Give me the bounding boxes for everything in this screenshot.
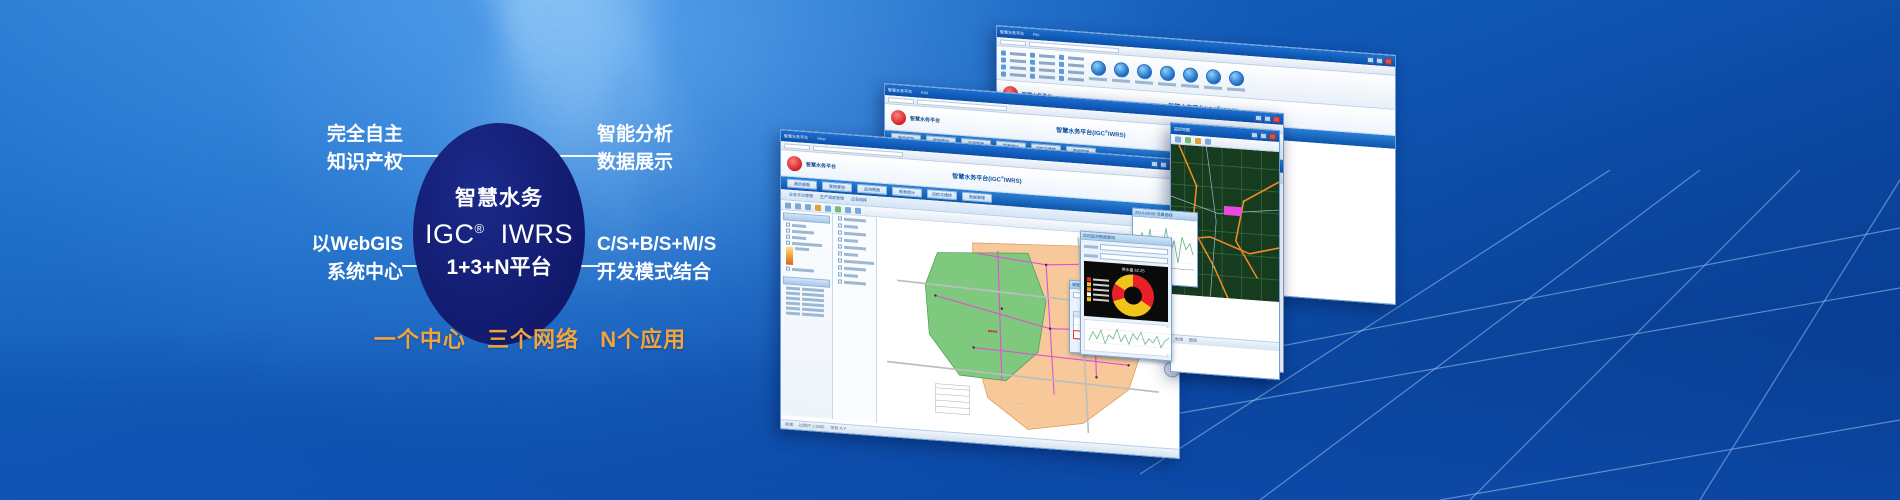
attr-value — [802, 303, 824, 308]
layer-checkbox[interactable] — [786, 266, 790, 270]
globe-icon[interactable] — [1114, 61, 1129, 77]
svg-text:·····: ····· — [1008, 269, 1013, 273]
tree-label — [844, 273, 858, 277]
tree-expand-icon[interactable] — [838, 251, 842, 255]
ribbon-button-large[interactable] — [1204, 68, 1222, 89]
app-title: 智慧水务平台(IGC®IWRS) — [952, 171, 1021, 185]
layers-icon[interactable] — [855, 207, 861, 213]
titlebar-text: 智慧水务平台 — [1000, 29, 1024, 37]
trend-chart — [1084, 319, 1168, 357]
ribbon-label — [1010, 59, 1026, 63]
tree-expand-icon[interactable] — [838, 244, 842, 248]
ribbon-icon[interactable] — [1059, 75, 1064, 80]
maximize-icon[interactable] — [1260, 132, 1267, 139]
monitor-panel-body: 供水量 52.25 — [1081, 240, 1171, 361]
layer-checkbox[interactable] — [786, 234, 790, 238]
tree-expand-icon[interactable] — [838, 265, 842, 269]
label-bottom-right: C/S+B/S+M/S 开发模式结合 — [597, 231, 716, 286]
center-ellipse: 智慧水务 IGC® IWRS 1+3+N平台 — [413, 123, 585, 345]
layer-checkbox[interactable] — [786, 222, 790, 226]
attr-value — [802, 288, 824, 293]
legend-label — [1093, 298, 1109, 301]
identify-icon[interactable] — [835, 206, 841, 212]
trend-chart-svg — [1087, 322, 1171, 354]
ribbon-icon[interactable] — [1030, 59, 1035, 64]
nav-tab[interactable]: 巡检与维修 — [927, 189, 957, 200]
status-ready: 就绪 — [1175, 336, 1183, 343]
ribbon-icon[interactable] — [1030, 66, 1035, 71]
label-bottom-left: 以WebGIS 系统中心 — [312, 231, 404, 286]
label-bottom-right-line1: C/S+B/S+M/S — [597, 231, 716, 259]
ribbon-icon[interactable] — [1059, 54, 1064, 59]
layer-label — [792, 223, 806, 227]
attr-value — [802, 298, 824, 303]
tree-label — [844, 231, 866, 236]
measure-icon[interactable] — [815, 204, 821, 210]
legend-swatch — [1087, 277, 1091, 281]
back-button[interactable] — [888, 97, 914, 104]
sub-nav-item[interactable]: 应急指挥 — [851, 196, 867, 203]
ribbon-button-large[interactable] — [1112, 61, 1130, 82]
status-ready: 就绪 — [785, 421, 793, 428]
label-top-right-line2: 数据展示 — [597, 149, 673, 177]
ribbon-label — [1039, 54, 1055, 58]
minimize-icon[interactable] — [1151, 160, 1158, 167]
legend-swatch — [1087, 282, 1091, 286]
menu-view[interactable]: View — [817, 136, 826, 142]
minimize-icon[interactable] — [1251, 131, 1258, 138]
tree-expand-icon[interactable] — [838, 216, 842, 220]
layers-icon[interactable] — [1185, 137, 1191, 143]
label-bottom-right-line2: 开发模式结合 — [597, 259, 716, 287]
maximize-icon[interactable] — [1264, 115, 1271, 122]
tree-label — [844, 238, 858, 242]
ribbon-button-large[interactable] — [1181, 66, 1199, 87]
layer-label — [792, 267, 814, 272]
svg-text:······: ······ — [1018, 401, 1024, 405]
tree-expand-icon[interactable] — [838, 223, 842, 227]
back-button[interactable] — [784, 143, 810, 150]
maximize-icon[interactable] — [1160, 161, 1167, 168]
ribbon-icon[interactable] — [1001, 71, 1006, 76]
legend-label — [1093, 288, 1109, 291]
attr-key — [786, 306, 800, 310]
ribbon-button-label — [1089, 76, 1107, 80]
zoom-out-icon[interactable] — [805, 203, 811, 209]
titlebar-text: 智慧水务平台 — [784, 133, 808, 141]
ribbon-icon[interactable] — [1030, 52, 1035, 57]
print-icon[interactable] — [845, 206, 851, 212]
nav-tab[interactable]: 报表统计 — [892, 186, 922, 197]
ribbon-button-large[interactable] — [1227, 70, 1245, 91]
sub-nav-item[interactable]: 业务平台管理 — [789, 192, 813, 200]
ribbon-button-label — [1181, 83, 1199, 87]
ribbon-button-label — [1158, 82, 1176, 86]
ribbon-label — [1010, 73, 1026, 77]
label-top-left-line1: 完全自主 — [327, 121, 403, 149]
back-button[interactable] — [1000, 39, 1026, 46]
menu-edit[interactable]: Edit — [921, 90, 928, 96]
brand-text: 智慧水务平台 — [806, 161, 836, 170]
tree-panel[interactable] — [833, 214, 877, 422]
screenshot-stack: 智慧水务平台 File — [780, 40, 1400, 470]
globe-icon[interactable] — [1206, 68, 1221, 84]
attr-key — [786, 296, 800, 300]
ribbon-icon[interactable] — [1059, 61, 1064, 66]
globe-icon[interactable] — [1229, 70, 1244, 86]
tagline-part1: 一个中心 — [374, 327, 466, 352]
globe-icon[interactable] — [1137, 63, 1152, 79]
zoom-in-icon[interactable] — [795, 203, 801, 209]
ribbon-label — [1068, 63, 1084, 67]
ribbon-group-basic[interactable] — [1001, 50, 1084, 82]
titlebar-text: 智慧水务平台 — [888, 87, 912, 95]
search-icon[interactable] — [1205, 138, 1211, 144]
tree-label — [844, 245, 866, 250]
window-buttons[interactable] — [1251, 131, 1276, 139]
sub-nav-item[interactable]: 生产调度管理 — [820, 194, 844, 202]
legend-swatch — [1087, 287, 1091, 291]
close-icon[interactable] — [1385, 58, 1392, 65]
ribbon-icon[interactable] — [1001, 64, 1006, 69]
layer-checkbox[interactable] — [786, 240, 790, 244]
ribbon-label — [1068, 56, 1084, 60]
ribbon-label — [1068, 77, 1084, 81]
tree-expand-icon[interactable] — [838, 272, 842, 276]
ellipse-cn-title: 智慧水务 — [455, 186, 543, 212]
ribbon-button-large[interactable] — [1135, 63, 1153, 84]
svg-text:■■■■: ■■■■ — [988, 328, 998, 334]
ribbon-button-label — [1135, 80, 1153, 84]
legend-label — [1093, 278, 1109, 281]
layer-checkbox[interactable] — [786, 228, 790, 232]
ribbon-button-label — [1227, 87, 1245, 91]
banner-background: 完全自主 知识产权 以WebGIS 系统中心 智能分析 数据展示 C/S+B/S… — [0, 0, 1900, 500]
ribbon-label — [1039, 75, 1055, 79]
pan-icon[interactable] — [785, 202, 791, 208]
marker-icon[interactable] — [1195, 137, 1201, 143]
gauge-legend — [1087, 277, 1109, 303]
registered-mark-icon: ® — [474, 221, 484, 236]
product-name-2: IWRS — [501, 219, 574, 249]
ribbon-icon[interactable] — [1030, 73, 1035, 78]
tree-label — [844, 266, 866, 271]
tagline: 一个中心 三个网络 N个应用 — [285, 322, 775, 354]
ribbon-label — [1039, 68, 1055, 72]
attr-value — [802, 308, 824, 313]
ribbon-label — [1039, 61, 1055, 65]
label-bottom-left-line1: 以WebGIS — [312, 231, 404, 259]
globe-icon[interactable] — [1183, 66, 1198, 82]
menu-file[interactable]: File — [1033, 32, 1039, 37]
taskbar-button[interactable] — [784, 430, 814, 439]
layer-label — [792, 235, 806, 239]
ribbon-icon[interactable] — [1001, 50, 1006, 55]
tree-label — [844, 252, 858, 256]
maximize-icon[interactable] — [1376, 57, 1383, 64]
ribbon-icon[interactable] — [1001, 57, 1006, 62]
date-label — [1084, 253, 1098, 257]
ribbon-button-label — [1204, 85, 1222, 89]
tree-label — [844, 259, 874, 264]
ribbon-icon[interactable] — [1059, 68, 1064, 73]
minimize-icon[interactable] — [1255, 114, 1262, 121]
ribbon-button-large[interactable] — [1089, 59, 1107, 80]
tagline-part2: 三个网络 — [487, 327, 579, 352]
nav-tab[interactable]: 监测数据 — [857, 184, 887, 195]
window-buttons[interactable] — [1255, 114, 1280, 122]
water-drop-logo-icon — [891, 110, 906, 126]
ellipse-platform: 1+3+N平台 — [446, 255, 551, 281]
select-icon[interactable] — [825, 205, 831, 211]
attr-value — [802, 313, 824, 318]
tree-label — [844, 280, 866, 285]
status-coords: 坐标 X,Y — [830, 425, 846, 432]
globe-icon[interactable] — [1091, 60, 1106, 76]
label-top-right: 智能分析 数据展示 — [597, 121, 673, 176]
legend-gradient — [786, 246, 793, 265]
attr-key — [786, 286, 800, 290]
tree-expand-icon[interactable] — [838, 279, 842, 283]
label-bottom-left-line2: 系统中心 — [312, 259, 404, 287]
label-top-right-line1: 智能分析 — [597, 121, 673, 149]
gauge-title: 供水量 52.25 — [1121, 267, 1144, 275]
status-bar: 就绪 图层 — [1171, 334, 1279, 351]
status-layer: 图层 — [1189, 337, 1197, 344]
globe-icon[interactable] — [1160, 65, 1175, 81]
nav-tab[interactable]: 我的桌面 — [787, 179, 817, 190]
ribbon-label — [1010, 66, 1026, 70]
tree-expand-icon[interactable] — [838, 258, 842, 262]
ribbon-button-label — [1112, 78, 1130, 82]
pan-icon[interactable] — [1175, 136, 1181, 142]
attr-key — [786, 311, 800, 315]
layer-label — [792, 241, 822, 246]
ellipse-product-line: IGC® IWRS — [425, 218, 573, 252]
minimize-icon[interactable] — [1367, 56, 1374, 63]
ribbon-label — [1068, 70, 1084, 74]
layer-panel[interactable] — [781, 210, 833, 419]
legend-label — [1093, 293, 1109, 296]
attr-key — [786, 301, 800, 305]
label-top-left-line2: 知识产权 — [327, 149, 403, 177]
legend-swatch — [1087, 297, 1091, 301]
close-icon[interactable] — [1273, 116, 1280, 123]
window-buttons[interactable] — [1367, 56, 1392, 64]
supply-gauge: 供水量 52.25 — [1084, 261, 1168, 322]
app-title: 智慧水务平台(IGC®IWRS) — [1056, 125, 1125, 139]
product-name: IGC — [425, 219, 475, 249]
brand-text: 智慧水务平台 — [910, 115, 940, 124]
close-icon[interactable] — [1269, 133, 1276, 140]
nav-tab[interactable]: 管网查询 — [822, 181, 852, 192]
donut-gauge — [1112, 273, 1154, 318]
attr-key — [786, 291, 800, 295]
tree-label — [844, 217, 866, 222]
tree-expand-icon[interactable] — [838, 230, 842, 234]
attr-value — [802, 293, 824, 298]
tagline-part3: N个应用 — [600, 327, 686, 352]
field-label — [1084, 244, 1098, 248]
tree-expand-icon[interactable] — [838, 237, 842, 241]
layer-label — [792, 229, 814, 234]
label-top-left: 完全自主 知识产权 — [327, 121, 403, 176]
monitor-panel[interactable]: 实时监测数据查询 — [1080, 231, 1172, 362]
taskbar-button[interactable] — [818, 432, 848, 441]
legend-swatch — [1087, 292, 1091, 296]
ribbon-label — [1010, 52, 1026, 56]
legend-label — [1093, 283, 1109, 286]
water-drop-logo-icon — [787, 156, 802, 172]
legend-label — [795, 247, 809, 251]
ribbon-button-large[interactable] — [1158, 65, 1176, 86]
titlebar-text: 监控地图 — [1174, 126, 1190, 133]
svg-text:····: ···· — [956, 319, 960, 323]
nav-tab[interactable]: 数据管理 — [962, 192, 992, 203]
tree-label — [844, 224, 858, 228]
